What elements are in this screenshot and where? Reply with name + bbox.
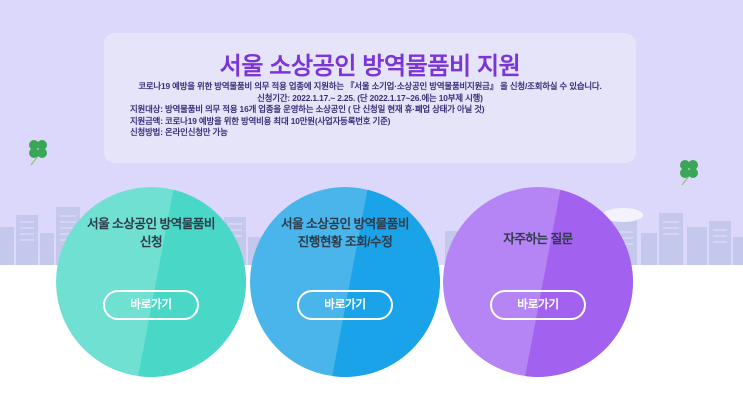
circle-apply-label-line2: 신청 xyxy=(56,233,246,251)
promo-banner: 서울 소상공인 방역물품비 지원 코로나19 예방을 위한 방역물품비 의무 적… xyxy=(0,0,743,401)
circle-faq-fill xyxy=(443,187,633,377)
page-title: 서울 소상공인 방역물품비 지원 xyxy=(104,46,636,81)
circle-status[interactable]: 서울 소상공인 방역물품비 진행현황 조회/수정 바로가기 xyxy=(250,187,440,377)
circle-apply-label: 서울 소상공인 방역물품비 신청 xyxy=(56,215,246,251)
info-line-amount: 지원금액: 코로나19 예방을 위한 방역비용 최대 10만원(사업자등록번호 … xyxy=(110,116,630,128)
circle-status-label-line1: 서울 소상공인 방역물품비 xyxy=(250,215,440,233)
clover-right-icon xyxy=(676,156,702,186)
circle-faq-label-line1: 자주하는 질문 xyxy=(443,230,633,248)
circle-faq[interactable]: 자주하는 질문 바로가기 xyxy=(443,187,633,377)
circle-status-label-line2: 진행현황 조회/수정 xyxy=(250,233,440,251)
status-goto-button[interactable]: 바로가기 xyxy=(297,290,393,320)
info-line-period: 신청기간: 2022.1.17.~ 2.25. (단 2022.1.17~26.… xyxy=(110,93,630,105)
faq-goto-button[interactable]: 바로가기 xyxy=(490,290,586,320)
action-circles: 서울 소상공인 방역물품비 신청 바로가기 서울 소상공인 방역물품비 진행현황… xyxy=(0,187,743,377)
circle-status-label: 서울 소상공인 방역물품비 진행현황 조회/수정 xyxy=(250,215,440,251)
clover-left-icon xyxy=(25,136,51,166)
apply-goto-button[interactable]: 바로가기 xyxy=(103,290,199,320)
info-text-block: 코로나19 예방을 위한 방역물품비 의무 적용 업종에 지원하는 『서울 소기… xyxy=(104,81,636,139)
circle-apply-label-line1: 서울 소상공인 방역물품비 xyxy=(56,215,246,233)
circle-apply[interactable]: 서울 소상공인 방역물품비 신청 바로가기 xyxy=(56,187,246,377)
info-line-intro: 코로나19 예방을 위한 방역물품비 의무 적용 업종에 지원하는 『서울 소기… xyxy=(110,81,630,93)
info-line-target: 지원대상: 방역물품비 의무 적용 16개 업종을 운영하는 소상공인 ( 단 … xyxy=(110,104,630,116)
info-line-method: 신청방법: 온라인신청만 가능 xyxy=(110,127,630,139)
info-panel: 서울 소상공인 방역물품비 지원 코로나19 예방을 위한 방역물품비 의무 적… xyxy=(104,33,636,163)
circle-faq-label: 자주하는 질문 xyxy=(443,230,633,248)
